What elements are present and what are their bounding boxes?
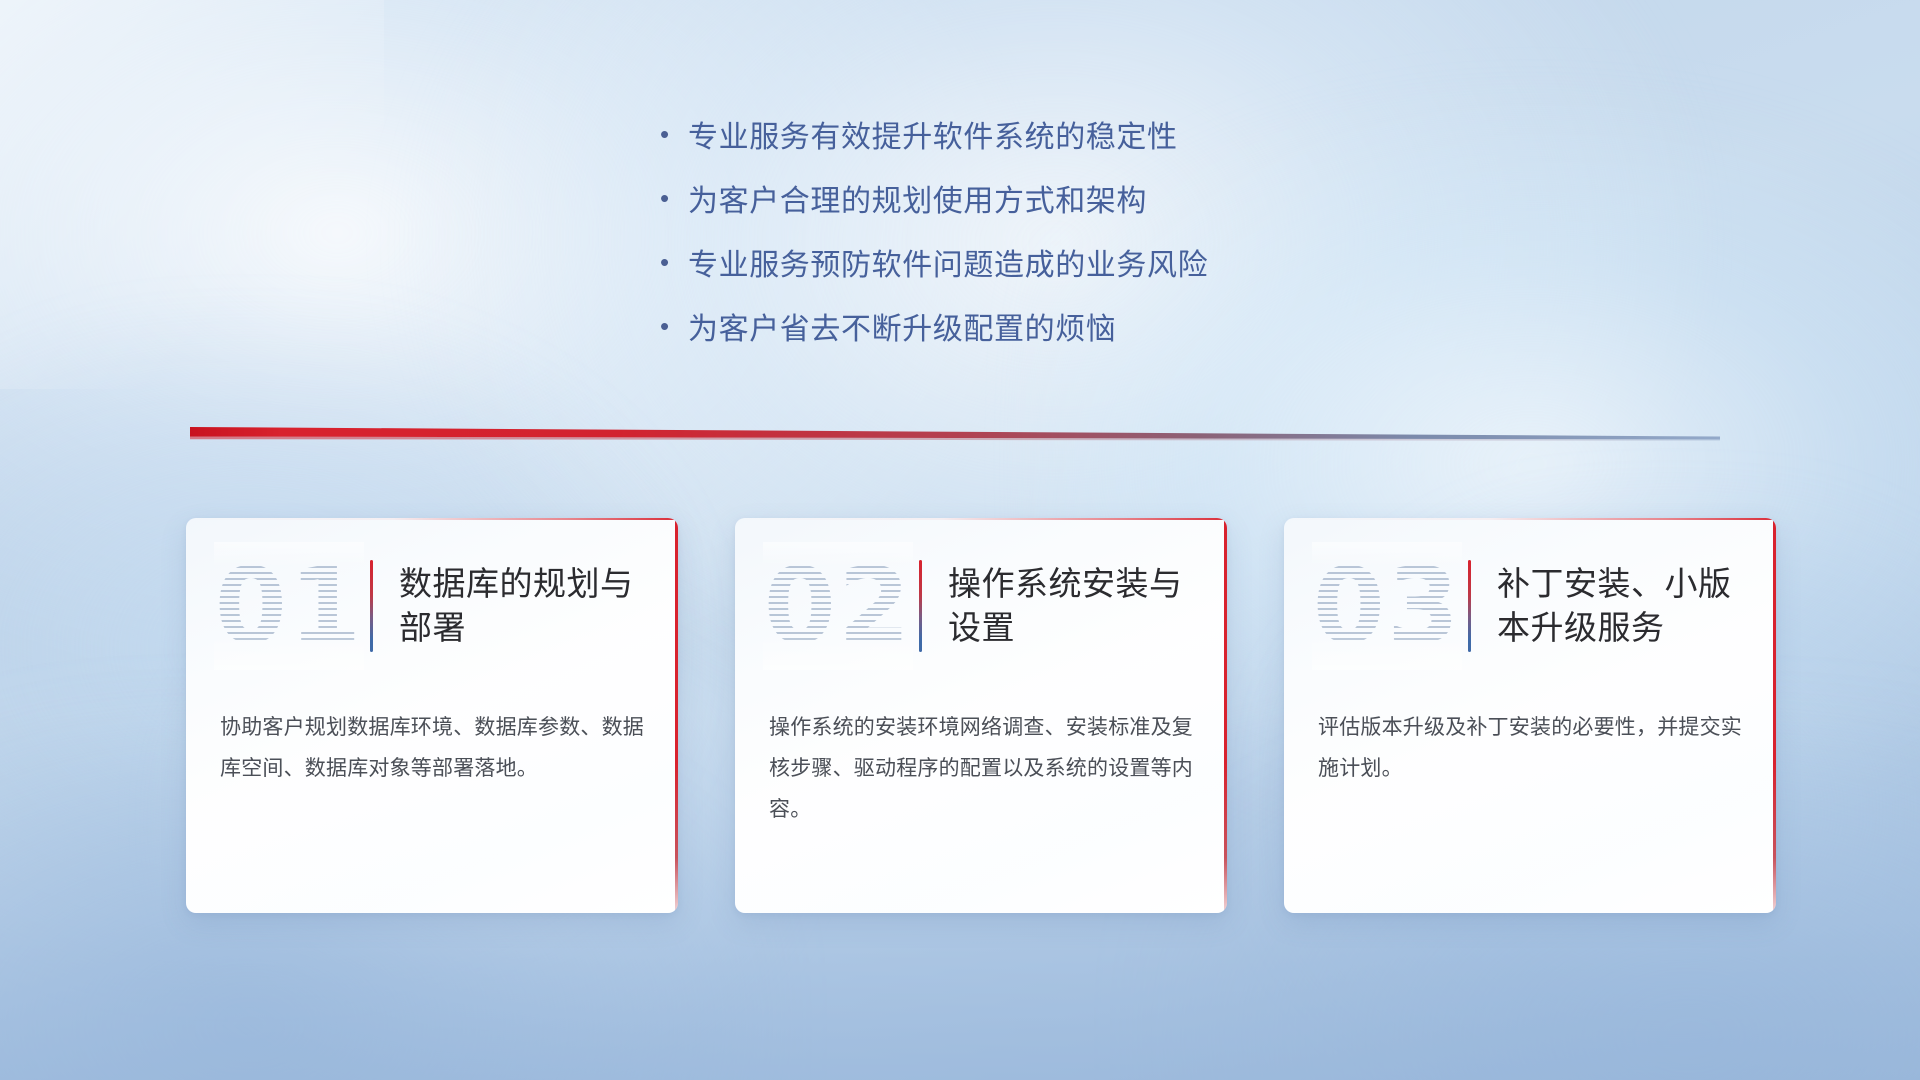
card-top-accent-line bbox=[735, 518, 1227, 520]
card-title: 数据库的规划与部署 bbox=[399, 562, 651, 649]
card-header: 03 补丁安装、小版本升级服务 bbox=[1284, 542, 1776, 670]
benefits-bullet-list: • 专业服务有效提升软件系统的稳定性 • 为客户合理的规划使用方式和架构 • 专… bbox=[660, 112, 1208, 368]
card-header: 02 操作系统安装与设置 bbox=[735, 542, 1227, 670]
card-top-accent-line bbox=[1284, 518, 1776, 520]
service-card-01[interactable]: 01 数据库的规划与部署 协助客户规划数据库环境、数据库参数、数据库空间、数据库… bbox=[186, 518, 678, 913]
divider-tapered-line-icon bbox=[190, 424, 1720, 446]
card-title-divider bbox=[1468, 560, 1471, 652]
card-title-divider bbox=[370, 560, 373, 652]
list-item: • 专业服务有效提升软件系统的稳定性 bbox=[660, 112, 1208, 176]
card-title: 补丁安装、小版本升级服务 bbox=[1497, 562, 1749, 649]
bullet-text: 专业服务预防软件问题造成的业务风险 bbox=[688, 240, 1208, 284]
bullet-dot-icon: • bbox=[660, 121, 688, 147]
bullet-text: 为客户合理的规划使用方式和架构 bbox=[688, 176, 1147, 220]
bullet-text: 为客户省去不断升级配置的烦恼 bbox=[688, 304, 1116, 348]
service-card-03[interactable]: 03 补丁安装、小版本升级服务 评估版本升级及补丁安装的必要性，并提交实施计划。 bbox=[1284, 518, 1776, 913]
bullet-dot-icon: • bbox=[660, 185, 688, 211]
card-header: 01 数据库的规划与部署 bbox=[186, 542, 678, 670]
card-number-watermark: 01 bbox=[214, 542, 364, 670]
card-description: 操作系统的安装环境网络调查、安装标准及复核步骤、驱动程序的配置以及系统的设置等内… bbox=[769, 708, 1193, 831]
bullet-text: 专业服务有效提升软件系统的稳定性 bbox=[688, 112, 1178, 156]
service-card-02[interactable]: 02 操作系统安装与设置 操作系统的安装环境网络调查、安装标准及复核步骤、驱动程… bbox=[735, 518, 1227, 913]
card-title: 操作系统安装与设置 bbox=[948, 562, 1200, 649]
card-number-text: 02 bbox=[764, 554, 913, 658]
bullet-dot-icon: • bbox=[660, 249, 688, 275]
service-card-list: 01 数据库的规划与部署 协助客户规划数据库环境、数据库参数、数据库空间、数据库… bbox=[186, 518, 1776, 913]
list-item: • 专业服务预防软件问题造成的业务风险 bbox=[660, 240, 1208, 304]
card-number-watermark: 03 bbox=[1312, 542, 1462, 670]
card-number-text: 03 bbox=[1313, 554, 1462, 658]
card-description: 评估版本升级及补丁安装的必要性，并提交实施计划。 bbox=[1318, 708, 1742, 790]
bullet-dot-icon: • bbox=[660, 313, 688, 339]
card-top-accent-line bbox=[186, 518, 678, 520]
card-title-divider bbox=[919, 560, 922, 652]
list-item: • 为客户合理的规划使用方式和架构 bbox=[660, 176, 1208, 240]
list-item: • 为客户省去不断升级配置的烦恼 bbox=[660, 304, 1208, 368]
card-description: 协助客户规划数据库环境、数据库参数、数据库空间、数据库对象等部署落地。 bbox=[220, 708, 644, 790]
card-number-watermark: 02 bbox=[763, 542, 913, 670]
card-number-text: 01 bbox=[215, 554, 364, 658]
section-divider bbox=[190, 424, 1720, 446]
